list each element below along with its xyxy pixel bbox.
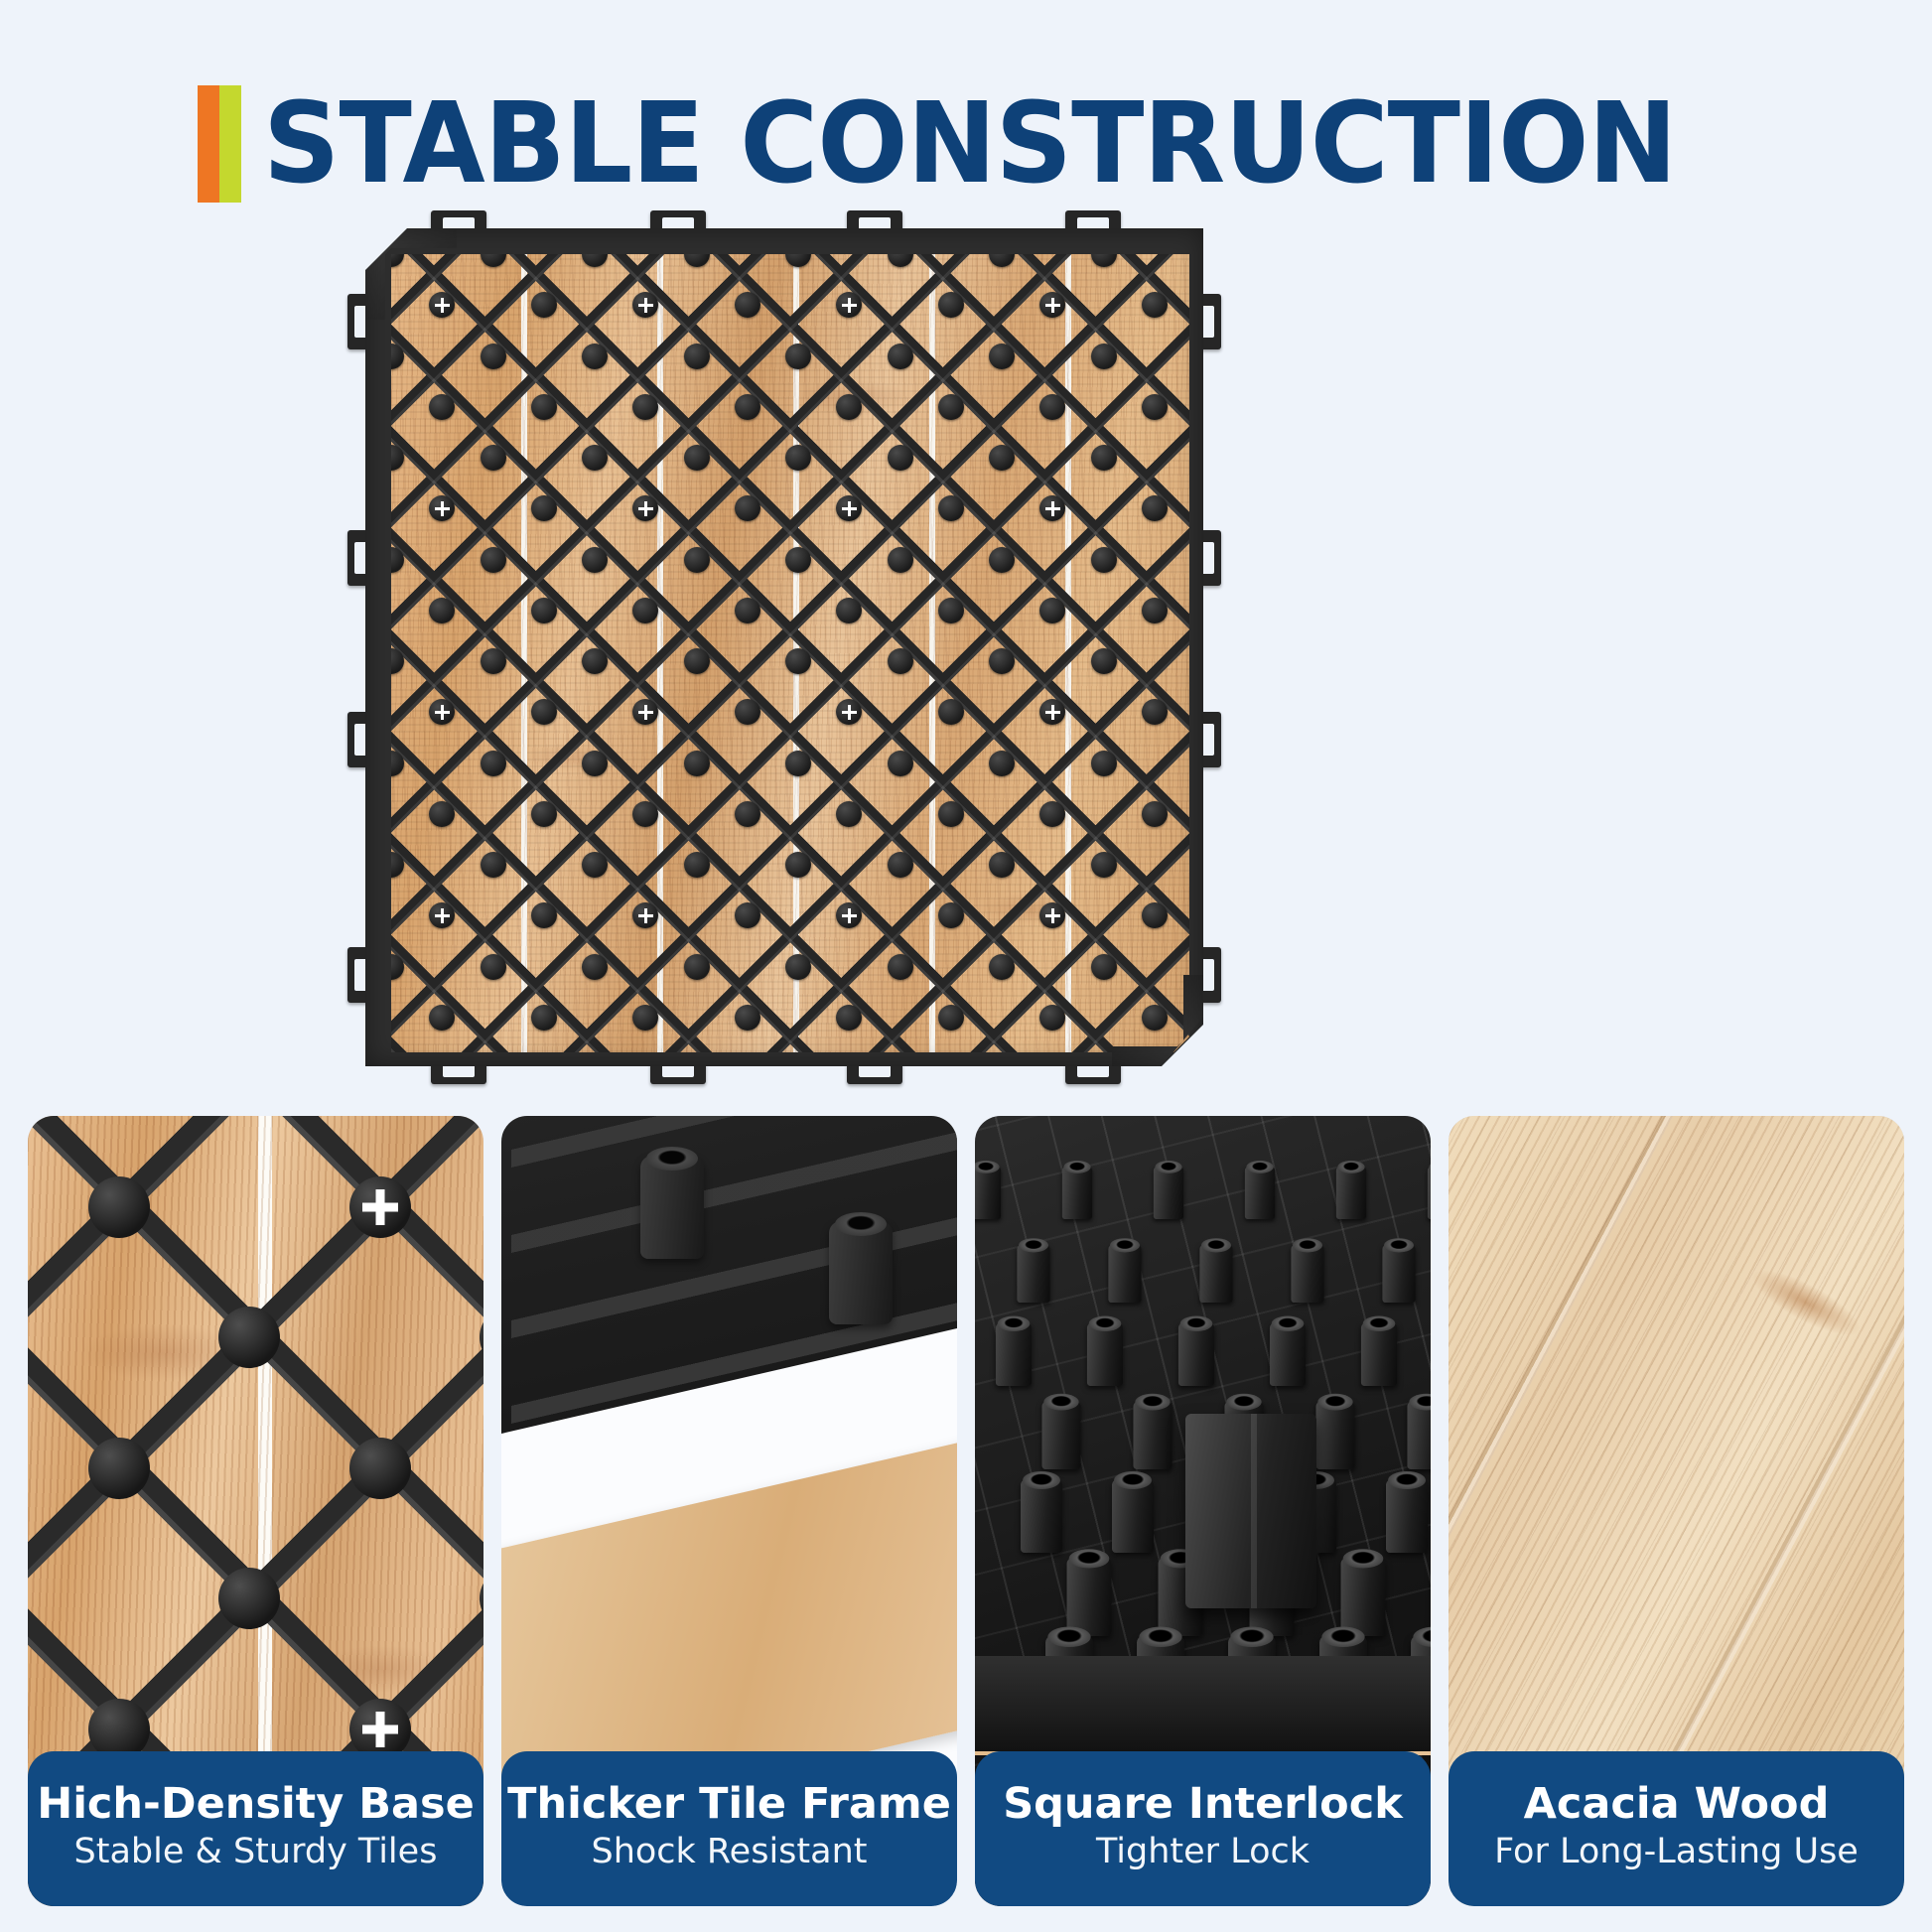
card-caption-2: Thicker Tile Frame Shock Resistant — [501, 1751, 957, 1906]
interlock-peg — [1315, 1401, 1354, 1469]
interlock-peg — [1041, 1401, 1080, 1469]
lattice-node — [218, 1568, 280, 1629]
page-header: STABLE CONSTRUCTION — [0, 81, 1932, 206]
interlock-peg — [1017, 1245, 1049, 1303]
frame-boss-1 — [640, 1156, 704, 1259]
page-title: STABLE CONSTRUCTION — [263, 88, 1677, 200]
card-subtitle-4: For Long-Lasting Use — [1494, 1833, 1859, 1871]
screw-head-icon — [349, 1176, 411, 1238]
tile-frame — [365, 228, 1203, 1066]
card-title-4: Acacia Wood — [1524, 1781, 1830, 1827]
interlock-peg — [1087, 1322, 1123, 1386]
lattice-node — [218, 1307, 280, 1368]
interlock-peg — [1199, 1245, 1232, 1303]
card-title-3: Square Interlock — [1003, 1781, 1403, 1827]
tile-wood-surface — [391, 254, 1189, 1052]
card-subtitle-3: Tighter Lock — [1096, 1833, 1310, 1871]
wood-grain-texture — [391, 254, 1189, 1052]
interlock-peg — [975, 1167, 1001, 1219]
card-caption-3: Square Interlock Tighter Lock — [975, 1751, 1431, 1906]
feature-card-square-interlock: Square Interlock Tighter Lock — [975, 1116, 1431, 1906]
interlock-peg — [1245, 1167, 1275, 1219]
square-interlock-block — [1185, 1414, 1316, 1608]
interlock-peg — [1270, 1322, 1306, 1386]
interlock-peg — [996, 1322, 1032, 1386]
card-caption-1: Hich-Density Base Stable & Sturdy Tiles — [28, 1751, 483, 1906]
feature-card-acacia-wood: Acacia Wood For Long-Lasting Use — [1449, 1116, 1904, 1906]
interlock-peg — [1291, 1245, 1323, 1303]
accent-bar-orange — [198, 85, 219, 203]
lattice-node — [349, 1438, 411, 1499]
card-title-2: Thicker Tile Frame — [507, 1781, 951, 1827]
accent-bar-lime — [219, 85, 241, 203]
interlock-peg — [1428, 1167, 1431, 1219]
interlock-peg — [1382, 1245, 1415, 1303]
interlock-peg — [1067, 1558, 1112, 1636]
lattice-node — [88, 1438, 150, 1499]
feature-card-row: Hich-Density Base Stable & Sturdy Tiles … — [28, 1116, 1904, 1906]
interlock-peg — [1407, 1401, 1431, 1469]
interlock-peg — [1154, 1167, 1183, 1219]
interlock-peg — [1021, 1479, 1062, 1553]
interlock-peg — [1108, 1245, 1141, 1303]
infographic-page: STABLE CONSTRUCTION — [0, 0, 1932, 1932]
interlock-peg — [1336, 1167, 1366, 1219]
interlock-peg — [1386, 1479, 1428, 1553]
interlock-peg — [1133, 1401, 1172, 1469]
interlock-peg — [1361, 1322, 1397, 1386]
card-caption-4: Acacia Wood For Long-Lasting Use — [1449, 1751, 1904, 1906]
card-title-1: Hich-Density Base — [37, 1781, 475, 1827]
interlock-peg — [1178, 1322, 1214, 1386]
card-subtitle-1: Stable & Sturdy Tiles — [74, 1833, 438, 1871]
lattice-node — [88, 1176, 150, 1238]
interlock-peg — [1112, 1479, 1154, 1553]
interlock-peg — [1341, 1558, 1386, 1636]
feature-card-high-density-base: Hich-Density Base Stable & Sturdy Tiles — [28, 1116, 483, 1906]
interlock-peg — [1062, 1167, 1092, 1219]
card-subtitle-2: Shock Resistant — [591, 1833, 867, 1871]
feature-card-thicker-tile-frame: Thicker Tile Frame Shock Resistant — [501, 1116, 957, 1906]
accent-bar-group — [198, 85, 241, 203]
frame-boss-2 — [829, 1221, 893, 1324]
hero-product-image — [347, 210, 1221, 1084]
